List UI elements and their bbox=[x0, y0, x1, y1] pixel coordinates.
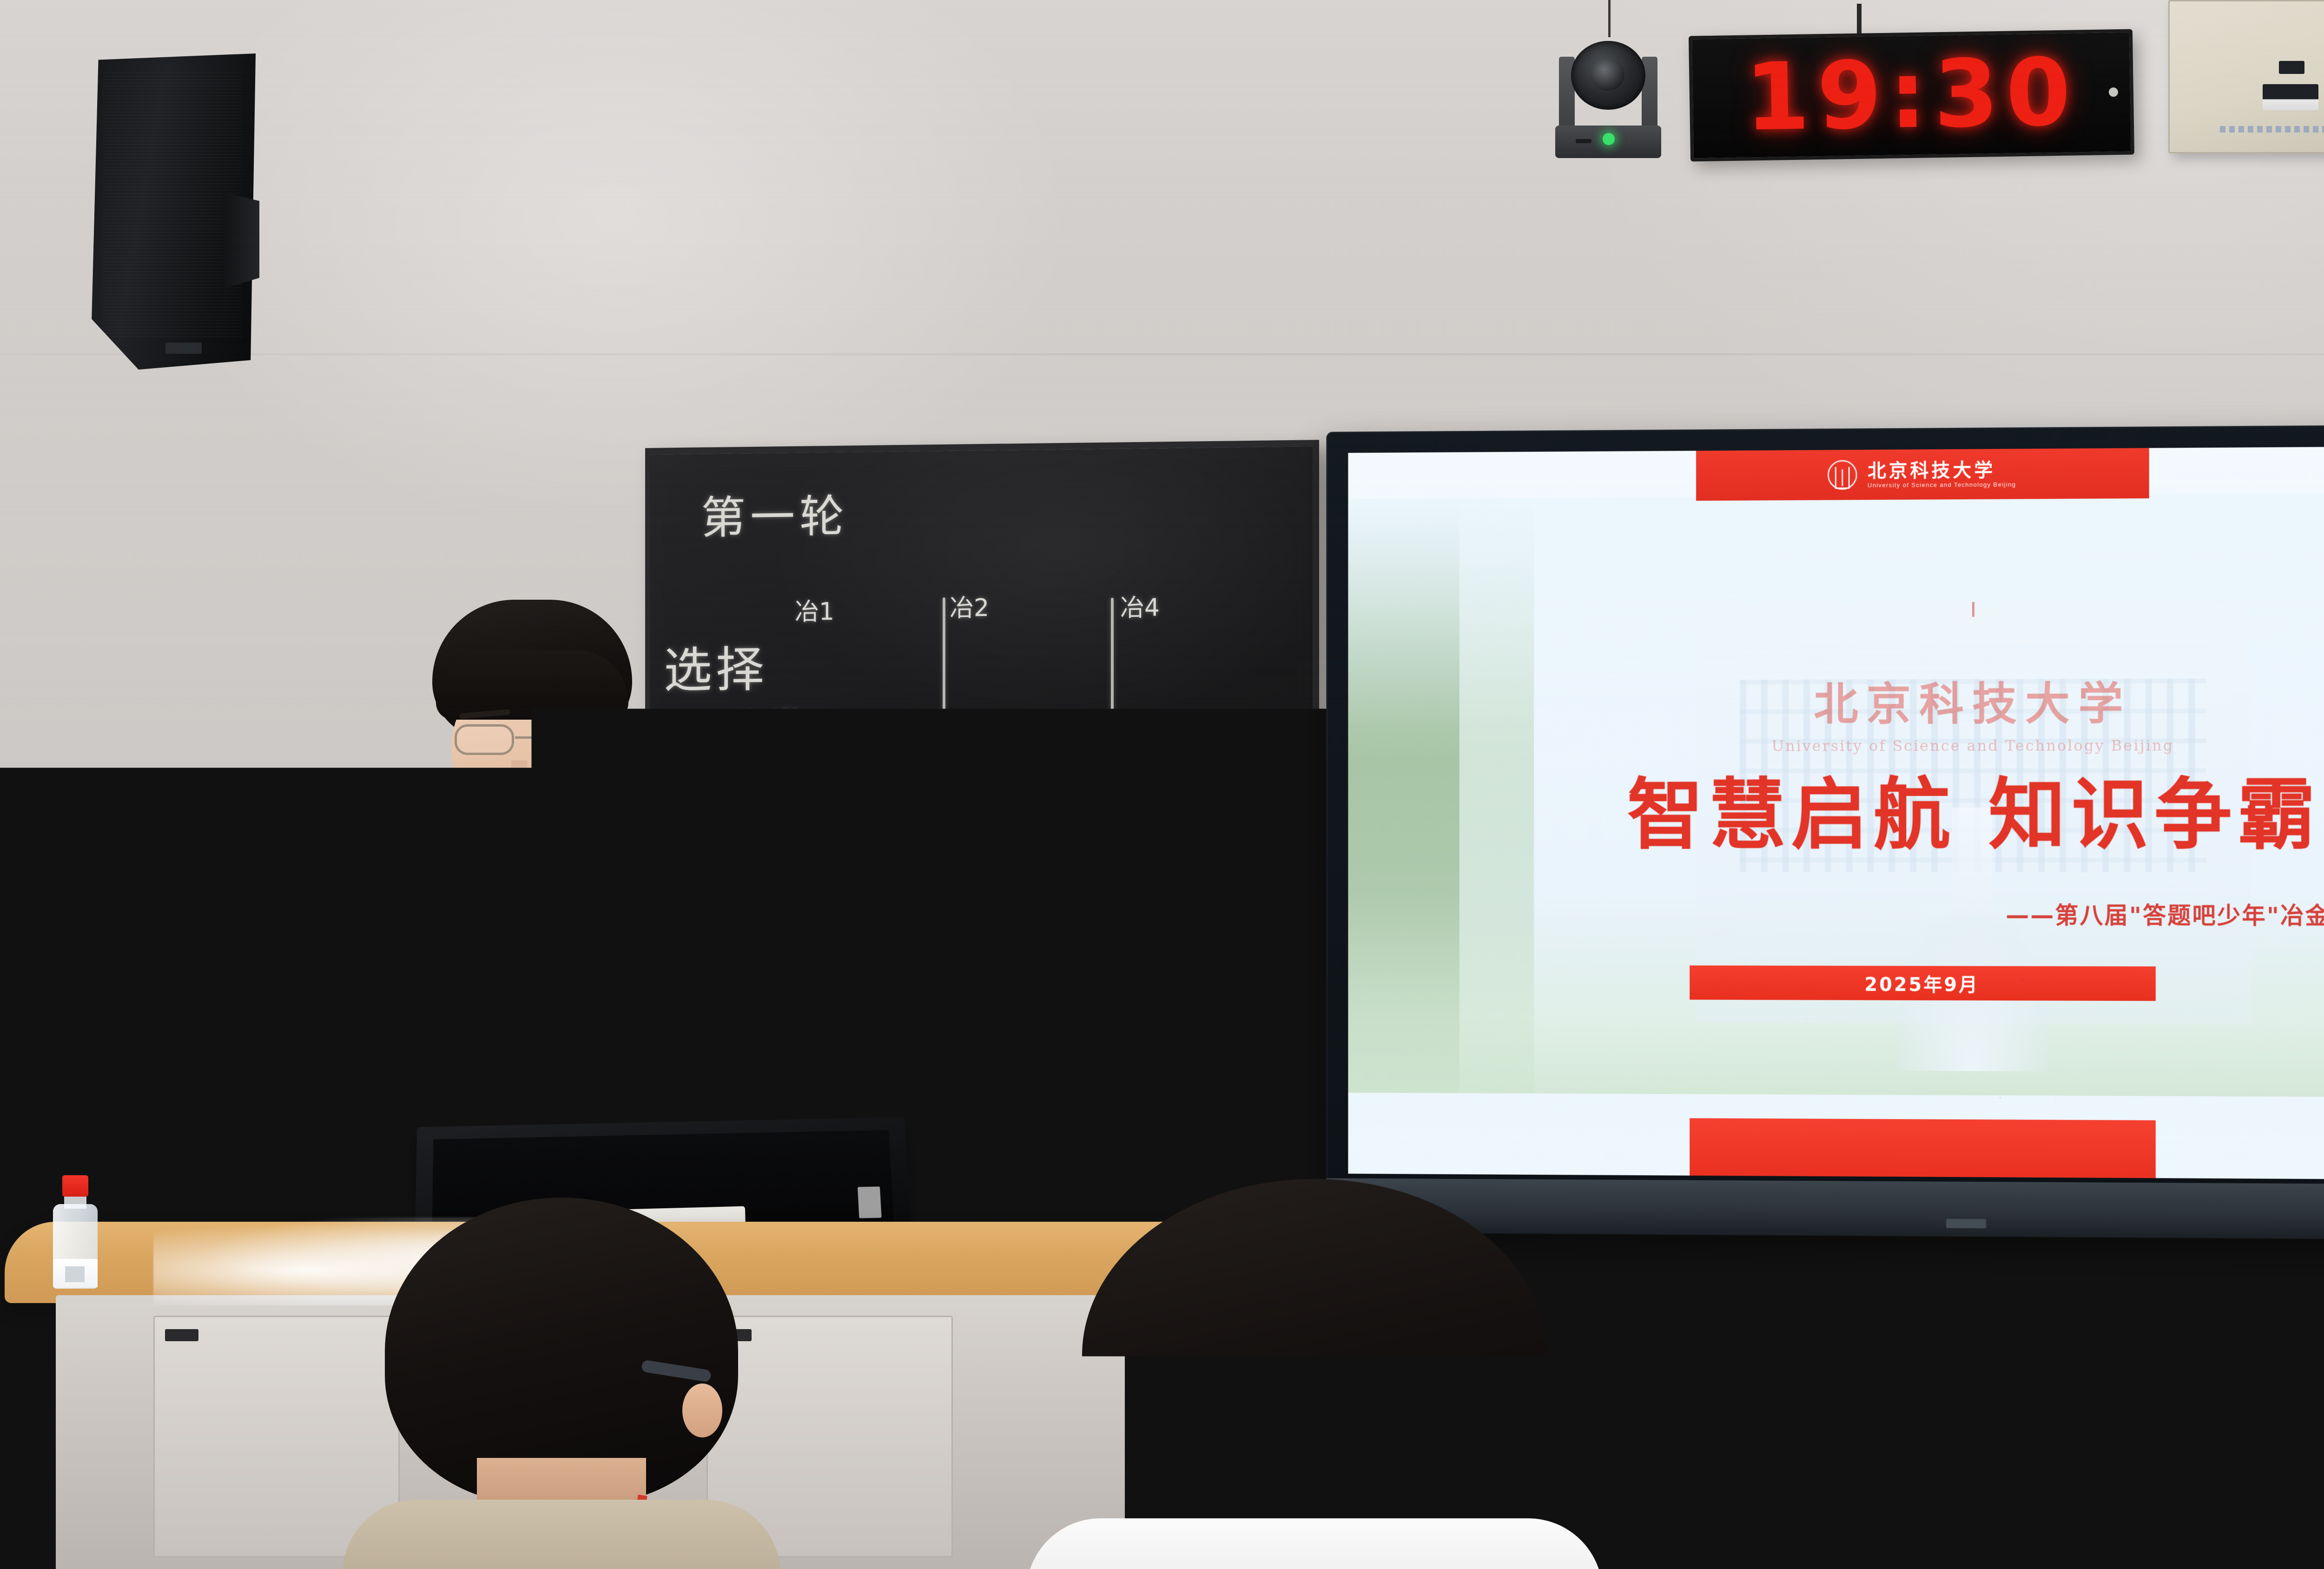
bottle-cap bbox=[62, 1175, 88, 1197]
slide-footer-band bbox=[1690, 1118, 2156, 1178]
student-ear bbox=[682, 1384, 722, 1437]
chalk-cell: 储1 bbox=[950, 735, 989, 770]
student-beige-shirt bbox=[385, 1198, 738, 1569]
chalk-cell: 冶4 bbox=[1120, 855, 1160, 891]
bottle-label bbox=[53, 1259, 98, 1288]
classroom-scene: 19:30 第一轮 选择 1分/道 (10) 空 { 冶1 冶2 冶4 冶3 储… bbox=[0, 0, 2324, 1569]
bottle-neck bbox=[64, 1195, 86, 1209]
university-name-en: University of Science and Technology Bei… bbox=[1868, 481, 2016, 488]
lectern-cabinet-door-left[interactable] bbox=[153, 1316, 400, 1557]
clock-mount bbox=[1857, 4, 1862, 36]
university-wordmark: 北京科技大学 University of Science and Technol… bbox=[1868, 461, 2016, 488]
speaker-grille bbox=[103, 73, 242, 338]
slide-header-bar: 北京科技大学 University of Science and Technol… bbox=[1696, 448, 2149, 501]
chalk-cell: 冶2 bbox=[950, 855, 989, 890]
presenter-lens-left bbox=[455, 724, 514, 755]
presenter-nose bbox=[511, 761, 527, 785]
chalk-cell: 储2 bbox=[1120, 735, 1160, 771]
presenter-lens-right bbox=[545, 724, 604, 755]
university-name-cn: 北京科技大学 bbox=[1868, 461, 2016, 480]
student-white-shirt bbox=[1082, 1179, 1547, 1569]
student-head bbox=[1994, 1199, 2254, 1488]
watermark-university-cn: 北京科技大学 bbox=[1348, 666, 2324, 733]
student-torso bbox=[343, 1500, 780, 1569]
led-wall-clock: 19:30 bbox=[1689, 29, 2134, 162]
chalk-grid-v4 bbox=[1110, 861, 1113, 1121]
camera-status-led bbox=[1603, 133, 1615, 145]
chalk-cell: 储1 bbox=[950, 1010, 989, 1046]
camera-cable bbox=[1608, 0, 1611, 37]
student-far-back bbox=[2059, 1478, 2324, 1569]
watermark-tick bbox=[1972, 602, 1974, 617]
slide-date-banner: 2025年9月 bbox=[1690, 966, 2156, 1001]
presentation-slide: 北京科技大学 University of Science and Technol… bbox=[1348, 445, 2324, 1181]
student-head bbox=[2059, 1478, 2324, 1569]
control-switch-small[interactable] bbox=[2279, 61, 2304, 74]
interactive-flat-panel[interactable]: 北京科技大学 University of Science and Technol… bbox=[1326, 424, 2324, 1241]
presenter-mouth bbox=[500, 792, 543, 800]
chalk-round-label: 第一轮 bbox=[701, 480, 849, 547]
chalk-cell: 储2 bbox=[1120, 1015, 1160, 1051]
student-hand bbox=[2273, 1320, 2324, 1413]
chalk-cell: 冶2 bbox=[950, 588, 989, 623]
control-panel-text bbox=[2220, 126, 2324, 132]
watermark-university-en: University of Science and Technology Bei… bbox=[1348, 735, 2324, 755]
speaker-mount-bracket bbox=[223, 186, 259, 293]
wall-seam bbox=[0, 353, 2324, 355]
presenter-glasses-icon bbox=[453, 724, 606, 755]
podium-monitor-tab bbox=[858, 1186, 882, 1218]
wall-control-panel[interactable] bbox=[2168, 0, 2324, 153]
student-ear bbox=[1486, 1421, 1528, 1476]
university-seal-icon bbox=[1828, 460, 1857, 490]
chalk-grid-v3 bbox=[942, 860, 944, 1120]
cabinet-handle[interactable] bbox=[165, 1329, 198, 1341]
slide-date: 2025年9月 bbox=[1864, 969, 1979, 997]
presenter-glasses-bridge bbox=[515, 736, 544, 739]
chalk-grid-v1 bbox=[943, 597, 945, 839]
water-bottle bbox=[50, 1175, 100, 1289]
control-switch-large[interactable] bbox=[2263, 84, 2318, 110]
slide-title: 智慧启航 知识争霸 bbox=[1348, 776, 2324, 854]
clock-time: 19:30 bbox=[1744, 46, 2079, 144]
camera-ir-sensor bbox=[1576, 139, 1591, 143]
slide-subtitle: ——第八届"答题吧少年"冶金学院分站赛 bbox=[1348, 896, 2324, 932]
chalk-cell: 冶4 bbox=[1120, 588, 1160, 623]
presenter-fringe bbox=[436, 650, 628, 720]
camera-lens-icon bbox=[1571, 41, 1645, 110]
student-torso bbox=[1026, 1518, 1603, 1569]
ptz-camera bbox=[1552, 33, 1664, 158]
chalk-grid-v2 bbox=[1111, 598, 1114, 840]
speaker-badge bbox=[165, 343, 202, 354]
clock-indicator-dot bbox=[2109, 87, 2118, 97]
